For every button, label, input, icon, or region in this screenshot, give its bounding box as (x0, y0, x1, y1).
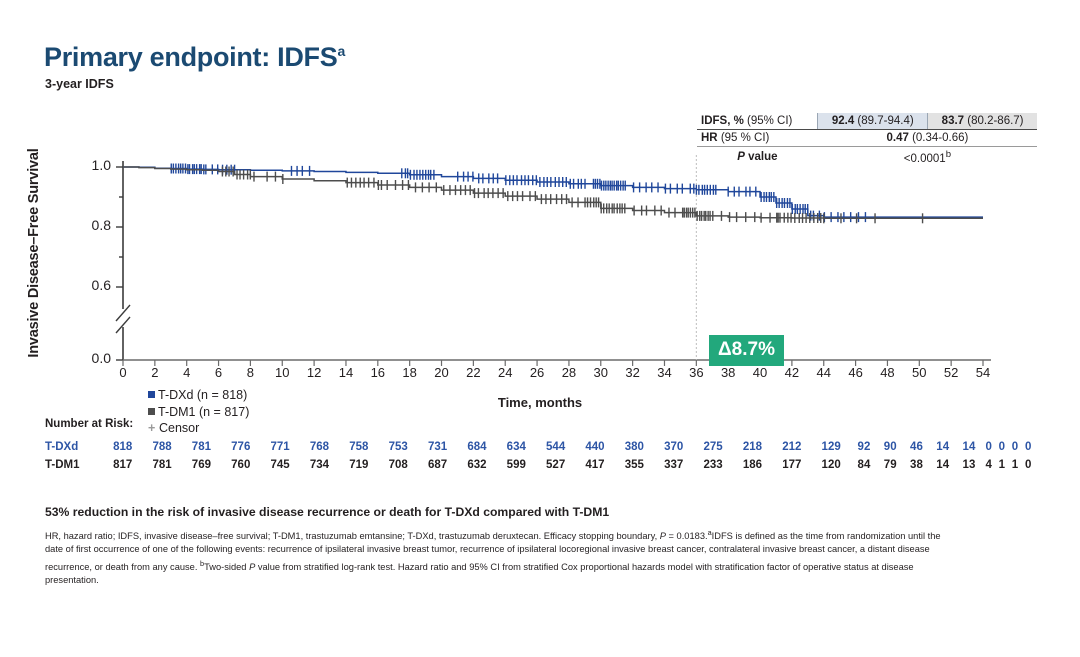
legend-item-tdm1: T-DM1 (n = 817) (148, 404, 249, 421)
risk-cell: 380 (615, 438, 654, 456)
risk-row: T-DM181778176976074573471970868763259952… (45, 456, 1035, 474)
risk-cell: 218 (733, 438, 772, 456)
km-plot: Invasive Disease–Free Survival Time, mon… (0, 95, 1080, 415)
risk-cell: 13 (956, 456, 982, 474)
km-curve-t-dxd (123, 167, 983, 217)
number-at-risk-title: Number at Risk: (45, 418, 133, 430)
risk-cell: 46 (903, 438, 929, 456)
risk-cell: 634 (497, 438, 536, 456)
risk-cell: 38 (903, 456, 929, 474)
risk-row-label: T-DM1 (45, 456, 103, 474)
risk-cell: 760 (221, 456, 260, 474)
risk-table: T-DXd81878878177677176875875373168463454… (45, 438, 1035, 474)
footnote-part1: HR, hazard ratio; IDFS, invasive disease… (45, 531, 660, 541)
risk-cell: 4 (982, 456, 995, 474)
footnote-part4: Two-sided (204, 562, 249, 572)
risk-cell: 0 (1008, 438, 1021, 456)
censor-marks-t-dm1 (222, 167, 922, 224)
risk-cell: 734 (300, 456, 339, 474)
risk-cell: 745 (260, 456, 299, 474)
slide-root: Primary endpoint: IDFSa 3-year IDFS IDFS… (0, 0, 1080, 657)
number-at-risk-table: T-DXd81878878177677176875875373168463454… (45, 438, 1035, 474)
page-title-text: Primary endpoint: IDFS (44, 42, 337, 72)
risk-cell: 355 (615, 456, 654, 474)
page-title: Primary endpoint: IDFSa (44, 42, 345, 73)
page-title-superscript: a (337, 43, 345, 59)
risk-cell: 275 (693, 438, 732, 456)
risk-cell: 781 (182, 438, 221, 456)
risk-cell: 758 (339, 438, 378, 456)
legend-label-censor: Censor (159, 421, 199, 435)
risk-cell: 753 (379, 438, 418, 456)
risk-cell: 768 (300, 438, 339, 456)
risk-cell: 771 (260, 438, 299, 456)
risk-cell: 0 (1022, 438, 1036, 456)
risk-cell: 0 (1022, 456, 1036, 474)
risk-cell: 708 (379, 456, 418, 474)
risk-cell: 687 (418, 456, 457, 474)
legend-label-tdm1: T-DM1 (n = 817) (158, 405, 249, 419)
risk-row: T-DXd81878878177677176875875373168463454… (45, 438, 1035, 456)
risk-cell: 370 (654, 438, 693, 456)
risk-cell: 233 (693, 456, 732, 474)
risk-cell: 90 (877, 438, 903, 456)
risk-row-label: T-DXd (45, 438, 103, 456)
plus-icon: + (148, 420, 158, 437)
risk-cell: 417 (575, 456, 614, 474)
risk-cell: 544 (536, 438, 575, 456)
footnote-text: HR, hazard ratio; IDFS, invasive disease… (45, 526, 945, 587)
risk-cell: 781 (142, 456, 181, 474)
legend-item-tdxd: T-DXd (n = 818) (148, 387, 249, 404)
risk-cell: 14 (930, 456, 956, 474)
risk-cell: 186 (733, 456, 772, 474)
km-curves-svg (0, 95, 1080, 395)
risk-cell: 817 (103, 456, 142, 474)
legend-swatch-tdm1 (148, 408, 155, 415)
legend-label-tdxd: T-DXd (n = 818) (158, 388, 247, 402)
chart-legend: T-DXd (n = 818) T-DM1 (n = 817) +Censor (148, 387, 249, 437)
risk-cell: 120 (811, 456, 850, 474)
risk-cell: 1 (1008, 456, 1021, 474)
risk-cell: 14 (956, 438, 982, 456)
risk-cell: 14 (930, 438, 956, 456)
risk-cell: 599 (497, 456, 536, 474)
risk-cell: 684 (457, 438, 496, 456)
risk-cell: 84 (851, 456, 877, 474)
risk-cell: 776 (221, 438, 260, 456)
risk-cell: 769 (182, 456, 221, 474)
risk-cell: 731 (418, 438, 457, 456)
risk-cell: 129 (811, 438, 850, 456)
risk-cell: 92 (851, 438, 877, 456)
risk-cell: 788 (142, 438, 181, 456)
risk-cell: 177 (772, 456, 811, 474)
risk-cell: 1 (995, 456, 1008, 474)
risk-cell: 527 (536, 456, 575, 474)
risk-cell: 0 (982, 438, 995, 456)
risk-cell: 632 (457, 456, 496, 474)
risk-cell: 818 (103, 438, 142, 456)
delta-badge: Δ8.7% (709, 335, 784, 366)
footnote-part2: = 0.0183. (666, 531, 708, 541)
risk-cell: 0 (995, 438, 1008, 456)
conclusion-text: 53% reduction in the risk of invasive di… (45, 505, 609, 519)
km-curve-t-dm1 (123, 167, 983, 218)
risk-cell: 212 (772, 438, 811, 456)
risk-cell: 719 (339, 456, 378, 474)
risk-cell: 440 (575, 438, 614, 456)
legend-item-censor: +Censor (148, 420, 249, 437)
page-subtitle: 3-year IDFS (45, 77, 114, 91)
legend-swatch-tdxd (148, 391, 155, 398)
risk-cell: 79 (877, 456, 903, 474)
risk-cell: 337 (654, 456, 693, 474)
